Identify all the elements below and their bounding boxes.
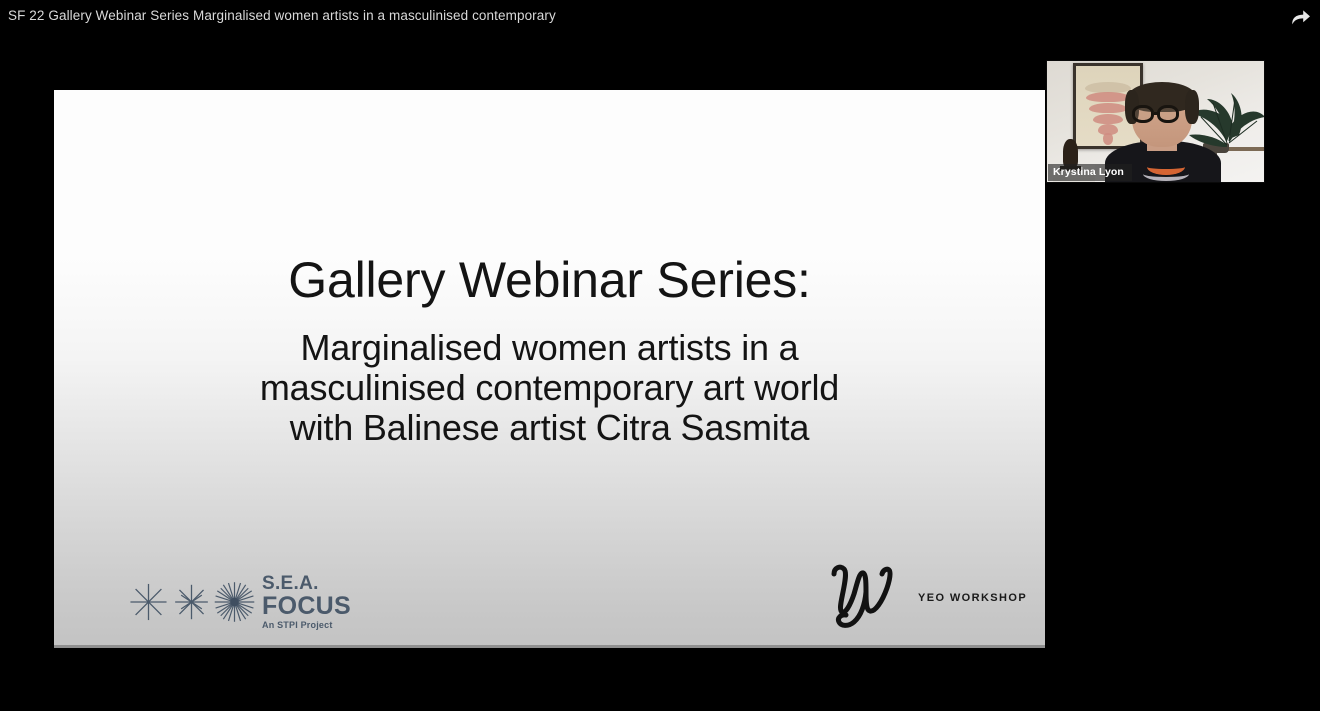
slide-subtitle-line-3: with Balinese artist Citra Sasmita	[54, 408, 1045, 448]
slide-subtitle-line-1: Marginalised women artists in a	[54, 328, 1045, 368]
eyeglasses-right-lens-icon	[1157, 105, 1179, 123]
sea-focus-line-1: S.E.A.	[262, 574, 351, 593]
secondary-necklace	[1143, 167, 1189, 181]
eyeglasses-bridge	[1154, 112, 1159, 115]
slide-subtitle-line-2: masculinised contemporary art world	[54, 368, 1045, 408]
slide-subtitle: Marginalised women artists in a masculin…	[54, 328, 1045, 448]
eyeglasses-left-lens-icon	[1132, 105, 1154, 123]
starburst-20-ray-icon	[213, 577, 256, 627]
video-title: SF 22 Gallery Webinar Series Marginalise…	[8, 8, 556, 23]
yeo-workshop-logo: YEO WORKSHOP	[826, 560, 1027, 632]
sea-focus-tagline: An STPI Project	[262, 621, 351, 630]
yeo-workshop-wordmark: YEO WORKSHOP	[918, 592, 1027, 604]
slide-title: Gallery Webinar Series:	[54, 251, 1045, 309]
sea-focus-line-2: FOCUS	[262, 594, 351, 619]
starburst-8-ray-icon	[127, 577, 170, 627]
dark-figure-sculpture	[1063, 139, 1078, 167]
slide-subtitle-line-3-text: with Balinese artist	[290, 407, 596, 448]
script-w-monogram-icon	[826, 560, 904, 632]
share-button[interactable]	[1288, 6, 1314, 28]
player-top-bar: SF 22 Gallery Webinar Series Marginalise…	[0, 0, 1320, 32]
share-arrow-icon	[1291, 9, 1311, 26]
video-player-screen: SF 22 Gallery Webinar Series Marginalise…	[0, 0, 1320, 711]
slide-bottom-edge	[54, 645, 1045, 648]
presentation-slide[interactable]: Gallery Webinar Series: Marginalised wom…	[54, 90, 1045, 648]
sea-focus-wordmark: S.E.A. FOCUS An STPI Project	[262, 574, 351, 630]
slide-artist-name: Citra Sasmita	[596, 407, 809, 448]
participant-name-label: Krystina Lyon	[1048, 164, 1132, 181]
sea-focus-logo: S.E.A. FOCUS An STPI Project	[127, 574, 351, 630]
starburst-10-ray-icon	[170, 577, 213, 627]
participant-video-tile[interactable]: Krystina Lyon	[1046, 60, 1265, 183]
